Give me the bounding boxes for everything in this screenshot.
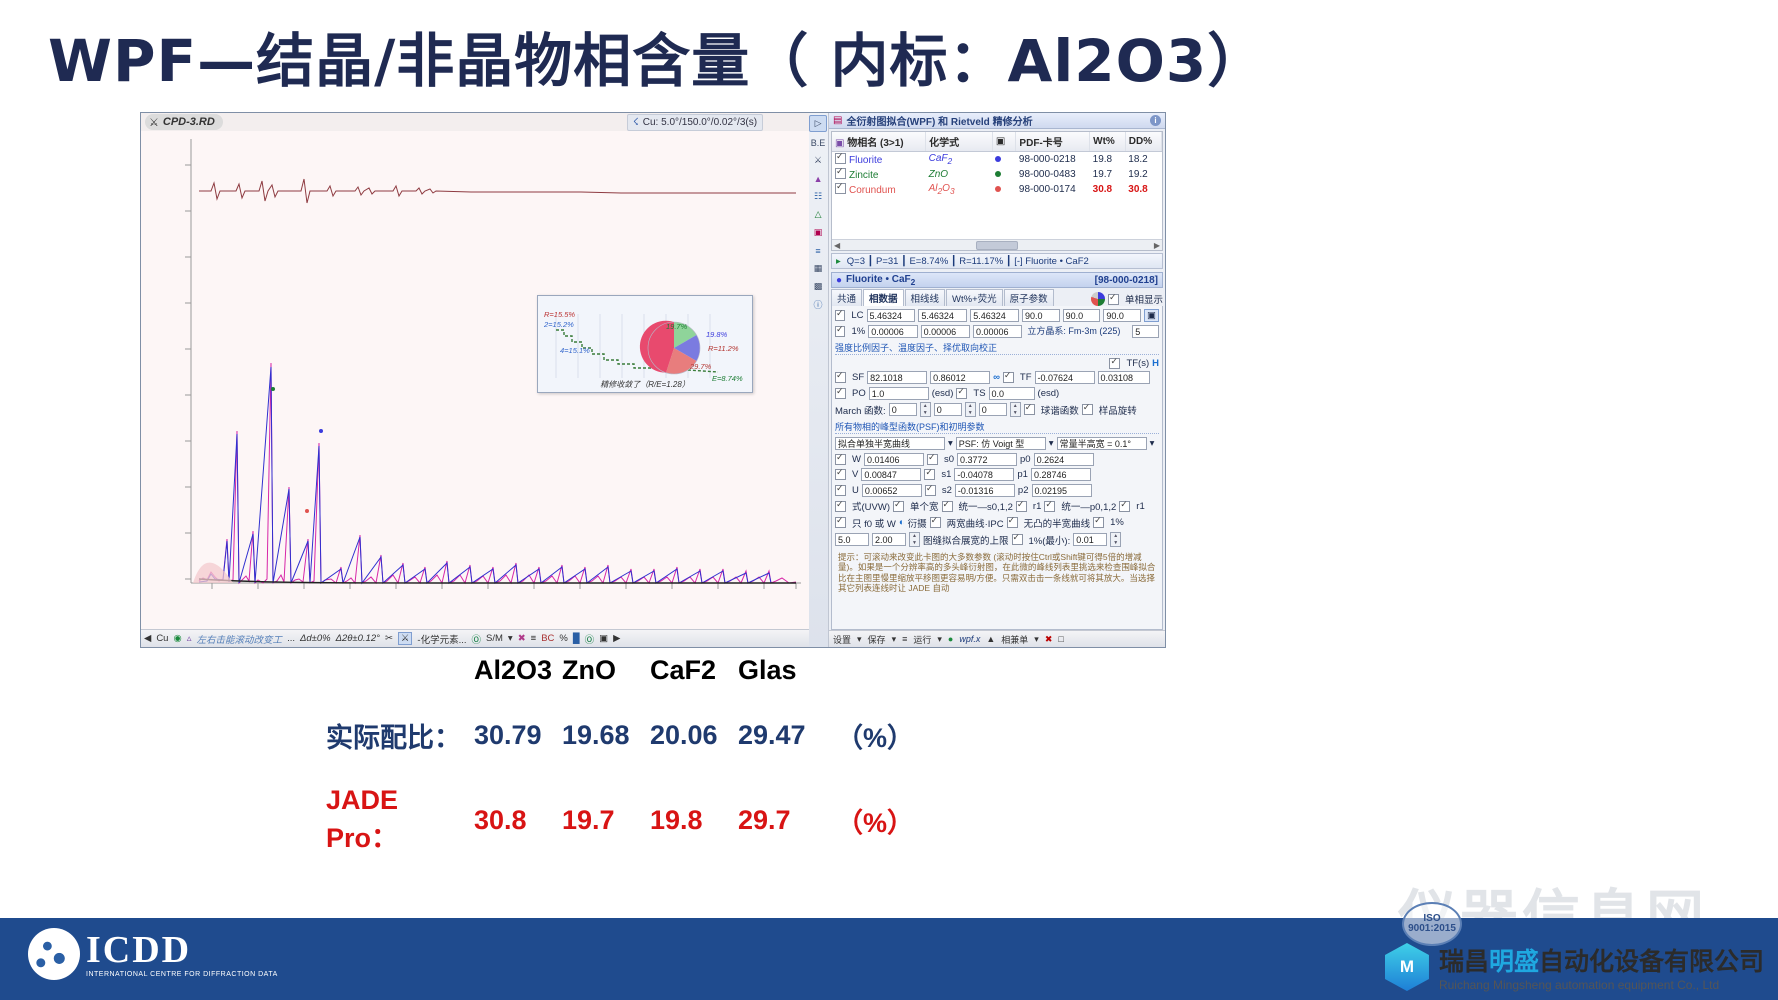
save-button[interactable]: 保存 (868, 633, 886, 646)
lattice-constants-row[interactable]: LC 5.46324 5.46324 5.46324 90.0 90.0 90.… (835, 309, 1159, 322)
lc-gamma-field[interactable]: 90.0 (1103, 309, 1141, 322)
inset-footer: 精修收敛了（R/E=1.28） (538, 379, 752, 390)
tfs-checkbox[interactable] (1109, 358, 1120, 369)
results-actual-zno: 19.68 (562, 720, 650, 751)
z-field[interactable]: 5 (1132, 325, 1159, 338)
file-tag[interactable]: ⚔ CPD-3.RD (145, 114, 223, 130)
unify-p-label: 统一—p0,1,2 (1061, 499, 1116, 513)
delta-theta-label[interactable]: Δ2θ±0.12° (336, 633, 380, 644)
results-jade-caf2: 19.8 (650, 805, 738, 836)
plot-bottom-toolbar[interactable]: ◀ Cu ◉ ▵ 左右击能滚动改变工 ... Δd±0% Δ2θ±0.12° ✂… (141, 629, 809, 647)
results-col-zno: ZnO (562, 655, 650, 686)
close-icon[interactable]: ✖ (1045, 634, 1053, 645)
grid-icon[interactable]: ▩ (810, 279, 826, 294)
limit-a-field[interactable]: 5.0 (835, 533, 869, 546)
tab-phase-data[interactable]: 相数据 (863, 289, 904, 306)
march-l-field[interactable]: 0 (979, 403, 1007, 416)
chevron-down-icon[interactable]: ▾ (857, 634, 862, 645)
s1-checkbox[interactable] (924, 469, 935, 480)
sf-infinity-icon[interactable]: ∞ (993, 372, 1000, 383)
sample-rotation-label: 样品旋转 (1099, 403, 1137, 417)
icdd-wordmark: ICDD (86, 931, 278, 969)
s1-label: s1 (941, 469, 951, 480)
limit-label: 图缝拟合展宽的上限 (923, 533, 1009, 547)
iso-line2: 9001:2015 (1408, 924, 1456, 935)
section-psf: 所有物相的峰型函数(PSF)和初明参数 (835, 420, 1159, 434)
po-row[interactable]: PO 1.0 (esd) TS 0.0 (esd) (835, 387, 1159, 400)
s0-label: s0 (944, 454, 954, 465)
scroll-thumb[interactable] (976, 241, 1018, 250)
info-icon[interactable]: ⓘ (810, 297, 826, 312)
scroll-left-arrow[interactable]: ◀ (834, 241, 840, 250)
tfs-h-icon[interactable]: H (1152, 358, 1159, 369)
column-header-phase[interactable]: ▣ 物相名 (3>1) (832, 132, 926, 152)
esd-b-field[interactable]: 0.00006 (921, 325, 970, 338)
march-h-field[interactable]: 0 (889, 403, 917, 416)
euro-icon[interactable]: Ⓞ (472, 632, 482, 646)
p2-label: p2 (1018, 485, 1029, 496)
euro2-icon[interactable]: Ⓞ (585, 632, 595, 646)
space-group-field[interactable]: 立方晶系: Fm-3m (225) (1025, 325, 1129, 338)
horizontal-scrollbar[interactable]: ◀ ▶ (832, 239, 1162, 250)
inset-item4: 4=15.1% (560, 346, 590, 355)
unify-s-label: 统一—s0,1,2 (959, 499, 1013, 513)
tf-value-field[interactable]: -0.07624 (1035, 371, 1095, 384)
wpf-bottom-toolbar[interactable]: 设置 ▾ 保存 ▾ ≡ 运行 ▾ ● wpf.x ▲ 相兼单 ▾ ✖ □ (829, 630, 1165, 647)
results-col-glas: Glas (738, 655, 826, 686)
u-label: U (852, 485, 859, 496)
pointer-icon[interactable]: ▷ (809, 115, 827, 132)
min-pct-label: 1%(最小): (1029, 533, 1071, 547)
phase-icon[interactable]: ⚔ (810, 153, 826, 168)
march-label: March 函数: (835, 403, 886, 417)
chevron-down-icon[interactable]: ▾ (1150, 438, 1155, 449)
list-icon[interactable]: ≡ (902, 634, 907, 644)
xray-icon: ☇ (633, 117, 639, 128)
p1-field[interactable]: 0.28746 (1031, 468, 1091, 481)
results-jade-zno: 19.7 (562, 805, 650, 836)
row-checkbox[interactable] (835, 153, 846, 164)
toolbar-ellipsis[interactable]: ... (287, 633, 295, 644)
icdd-subtitle: INTERNATIONAL CENTRE FOR DIFFRACTION DAT… (86, 971, 278, 978)
selected-phase-header: ● Fluorite • CaF2 [98-000-0218] (831, 272, 1163, 288)
diffract-label: 衍摄 (908, 516, 927, 530)
results-jade-al2o3: 30.8 (474, 805, 562, 836)
ts-checkbox[interactable] (956, 388, 967, 399)
bullet-icon: ● (836, 275, 842, 286)
table-row[interactable]: Corundum Al2O3 98-000-0174 30.8 30.8 (832, 182, 1162, 197)
tab-phase-lines[interactable]: 相线线 (905, 289, 946, 306)
wpf-panel-title-bar: ▤ 全衍射图拟合(WPF) 和 Rietveld 精修分析 i (829, 113, 1165, 129)
show-phase-checkbox[interactable] (1108, 294, 1119, 305)
no-convex-label: 无凸的半宽曲线 (1024, 516, 1091, 530)
cell-wt: 19.8 (1090, 152, 1126, 168)
extra-options-row[interactable]: 只 f0 或 W ◐ 衍摄 两宽曲线·IPC 无凸的半宽曲线 1% (835, 516, 1159, 530)
cell-phase-name: Fluorite (849, 155, 882, 166)
u-row[interactable]: U 0.00652 s2 -0.01316 p2 0.02195 (835, 484, 1159, 497)
po-label: PO (852, 388, 866, 399)
sf-checkbox[interactable] (835, 372, 846, 383)
vendor-logo-block: M 瑞昌明盛自动化设备有限公司 Ruichang Mingsheng autom… (1385, 942, 1764, 992)
uvw-label: 式(UVW) (852, 499, 890, 513)
jade-application-window: ⚔ CPD-3.RD ☇ Cu: 5.0°/150.0°/0.02°/3(s) … (140, 112, 1166, 648)
index-icon[interactable]: ☷ (810, 189, 826, 204)
tfs-label: TF(s) (1126, 358, 1149, 369)
expand-icon[interactable]: ▸ (836, 256, 841, 267)
uvw-checkbox[interactable] (835, 501, 846, 512)
lc-a-field[interactable]: 5.46324 (867, 309, 916, 322)
ts-label: TS (973, 388, 985, 399)
psf-select-row[interactable]: 拟合单独半宽曲线 ▾ PSF: 仿 Voigt 型 ▾ 常量半高宽 = 0.1°… (835, 437, 1159, 450)
fit-quality-text: Q=3 ┃ P=31 ┃ E=8.74% ┃ R=11.17% ┃ [-] Fl… (847, 256, 1089, 267)
file-tag-label: CPD-3.RD (163, 116, 215, 128)
results-actual-al2o3: 30.79 (474, 720, 562, 751)
color-swatch (995, 156, 1001, 162)
table-icon[interactable]: ▦ (810, 261, 826, 276)
single-width-label: 单个宽 (910, 499, 939, 513)
lc-alpha-field[interactable]: 90.0 (1022, 309, 1060, 322)
lc-checkbox[interactable] (835, 310, 845, 321)
column-header-color[interactable]: ▣ (992, 132, 1016, 152)
esd-checkbox[interactable] (835, 326, 845, 337)
table-row[interactable]: Zincite ZnO 98-000-0483 19.7 19.2 (832, 167, 1162, 182)
v-row[interactable]: V 0.00847 s1 -0.04078 p1 0.28746 (835, 468, 1159, 481)
chevron-down-icon[interactable]: ▾ (937, 634, 942, 645)
pattern-icon: ⚔ (149, 116, 159, 129)
grid-icon[interactable]: ▣ (599, 633, 608, 644)
march-h-spinner[interactable]: ▲▼ (920, 402, 931, 417)
results-actual-caf2: 20.06 (650, 720, 738, 751)
run-button[interactable]: 运行 (913, 633, 931, 646)
icdd-logo: ICDD INTERNATIONAL CENTRE FOR DIFFRACTIO… (28, 928, 278, 980)
march-k-spinner[interactable]: ▲▼ (965, 402, 976, 417)
pct2-label: 1% (1110, 517, 1124, 528)
r1a-checkbox[interactable] (1016, 501, 1027, 512)
limit-b-field[interactable]: 2.00 (872, 533, 906, 546)
lc-beta-field[interactable]: 90.0 (1063, 309, 1101, 322)
info-icon[interactable]: i (1150, 115, 1161, 126)
table-row[interactable]: Fluorite CaF2 98-000-0218 19.8 18.2 (832, 152, 1162, 168)
chevron-down-icon[interactable]: ▾ (948, 438, 953, 449)
psf-mode-select[interactable]: 拟合单独半宽曲线 (835, 437, 945, 450)
sf-row[interactable]: SF 82.1018 0.86012 ∞ TF -0.07624 0.03108 (835, 371, 1159, 384)
percent-label[interactable]: % (559, 633, 567, 644)
selected-phase-name: Fluorite • CaF2 (846, 274, 915, 287)
list-icon[interactable]: ≡ (531, 633, 537, 644)
lock-icon: ▣ (835, 138, 844, 149)
po-checkbox[interactable] (835, 388, 846, 399)
diffraction-plot-pane[interactable]: ⚔ CPD-3.RD ☇ Cu: 5.0°/150.0°/0.02°/3(s) … (141, 113, 807, 647)
results-jade-unit: （%） (836, 801, 914, 840)
globe-icon (28, 928, 80, 980)
limit-row[interactable]: 5.0 2.00 ▲▼ 图缝拟合展宽的上限 1%(最小): 0.01 ▲▼ (835, 532, 1159, 547)
p2-field[interactable]: 0.02195 (1032, 484, 1092, 497)
row-checkbox[interactable] (835, 168, 846, 179)
s2-checkbox[interactable] (925, 485, 936, 496)
section-intensity-factors: 强度比例因子、温度因子、择优取向校正 (835, 341, 1159, 355)
color-swatch (995, 171, 1001, 177)
settings-button[interactable]: 设置 (833, 633, 851, 646)
inset-slice-fluorite: 19.8% (706, 330, 727, 339)
tf-label: TF (1020, 372, 1032, 383)
page-title: WPF—结晶/非晶物相含量（ 内标：Al2O3） (48, 14, 1266, 98)
esd-c-field[interactable]: 0.00006 (973, 325, 1022, 338)
hint-text: 提示：可滚动来改变此卡图的大多数参数 (滚动时按住Ctrl或Shift键可得5倍… (835, 550, 1159, 597)
results-actual-label: 实际配比： (326, 716, 474, 755)
sm-label[interactable]: S/M (486, 633, 503, 644)
results-comparison: Al2O3 ZnO CaF2 Glas 实际配比： 30.79 19.68 20… (0, 655, 1778, 855)
row-checkbox[interactable] (835, 183, 846, 194)
pct2-checkbox[interactable] (1093, 517, 1104, 528)
tab-atomic-params[interactable]: 原子参数 (1004, 289, 1054, 306)
column-header-formula[interactable]: 化学式 (926, 132, 993, 152)
chevron-down-icon[interactable]: ▾ (508, 633, 513, 644)
nav-left-icon[interactable]: ◀ (144, 633, 151, 644)
r1b-label: r1 (1136, 501, 1144, 512)
w-field[interactable]: 0.01406 (864, 453, 924, 466)
tfs-row[interactable]: TF(s) H (835, 358, 1159, 369)
sf-label: SF (852, 372, 864, 383)
wpf-rietveld-panel[interactable]: ▤ 全衍射图拟合(WPF) 和 Rietveld 精修分析 i ▣ 物相名 (3… (829, 113, 1165, 647)
phase-icon[interactable]: ⚔ (398, 632, 413, 645)
chart-icon[interactable]: █ (573, 633, 580, 644)
inset-r-total: R=15.5% (544, 310, 575, 319)
march-l-spinner[interactable]: ▲▼ (1010, 402, 1021, 417)
esd-a-field[interactable]: 0.00006 (868, 325, 917, 338)
u-field[interactable]: 0.00652 (862, 484, 922, 497)
tab-wt-fluorescence[interactable]: Wt%+荧光 (946, 289, 1003, 306)
vendor-name-en: Ruichang Mingsheng automation equipment … (1439, 978, 1764, 992)
s0-field[interactable]: 0.3772 (957, 453, 1017, 466)
element-filter-label[interactable]: -化学元素... (417, 632, 466, 646)
fwhm-select[interactable]: 常量半高宽 = 0.1° (1057, 437, 1147, 450)
wpf-panel-title: 全衍射图拟合(WPF) 和 Rietveld 精修分析 (846, 113, 1032, 128)
results-col-caf2: CaF2 (650, 655, 738, 686)
w-label: W (852, 454, 861, 465)
sf-value-field[interactable]: 82.1018 (867, 371, 927, 384)
spherical-checkbox[interactable] (1024, 404, 1035, 415)
ts-esd-label: (esd) (1038, 388, 1060, 399)
wave-icon[interactable]: ▵ (187, 633, 192, 644)
unify-p-checkbox[interactable] (1044, 501, 1055, 512)
column-header-dd[interactable]: DD% (1125, 132, 1161, 152)
column-header-pdf[interactable]: PDF-卡号 (1016, 132, 1090, 152)
cell-phase-name: Corundum (849, 185, 896, 196)
measurement-condition-tag[interactable]: ☇ Cu: 5.0°/150.0°/0.02°/3(s) (627, 114, 763, 131)
scroll-right-arrow[interactable]: ▶ (1154, 241, 1160, 250)
march-k-field[interactable]: 0 (934, 403, 962, 416)
chart-icon[interactable]: ▲ (986, 634, 995, 644)
x-icon[interactable]: ✖ (518, 633, 526, 644)
results-actual-glas: 29.47 (738, 720, 826, 751)
cell-formula: Al2O3 (929, 183, 955, 194)
esd-label: 1% (851, 326, 865, 337)
v-checkbox[interactable] (835, 469, 846, 480)
lc-c-field[interactable]: 5.46324 (970, 309, 1019, 322)
inset-r-value: R=11.2% (708, 344, 739, 353)
column-header-wt[interactable]: Wt% (1090, 132, 1126, 152)
lattice-tool-icon[interactable]: ▣ (1144, 309, 1159, 322)
results-row-jade: JADE Pro： 30.8 19.7 19.8 29.7 （%） (0, 785, 1778, 855)
s2-label: s2 (942, 485, 952, 496)
w-checkbox[interactable] (835, 454, 846, 465)
cell-pdf: 98-000-0218 (1016, 152, 1090, 168)
lc-label: LC (851, 310, 863, 321)
only-f0w-label: 只 f0 或 W (852, 516, 896, 530)
measurement-condition-label: Cu: 5.0°/150.0°/0.02°/3(s) (643, 117, 757, 128)
single-width-checkbox[interactable] (893, 501, 904, 512)
min-pct-checkbox[interactable] (1012, 534, 1023, 545)
cell-wt: 19.7 (1090, 167, 1126, 182)
inset-slice-zincite: 19.7% (666, 322, 687, 331)
s0-checkbox[interactable] (927, 454, 938, 465)
r1a-label: r1 (1033, 501, 1041, 512)
results-col-al2o3: Al2O3 (474, 655, 562, 686)
lc-b-field[interactable]: 5.46324 (918, 309, 967, 322)
cell-pdf: 98-000-0483 (1016, 167, 1090, 182)
list-icon[interactable]: ≡ (810, 243, 826, 258)
ts-value-field[interactable]: 0.0 (989, 387, 1035, 400)
results-actual-unit: （%） (836, 716, 914, 755)
file-name-label[interactable]: wpf.x (959, 634, 980, 644)
tf-esd-field[interactable]: 0.03108 (1098, 371, 1150, 384)
report-icon[interactable]: ▣ (810, 225, 826, 240)
s1-field[interactable]: -0.04078 (954, 468, 1014, 481)
scissors-icon[interactable]: ✂ (385, 633, 393, 644)
po-esd-label: (esd) (932, 388, 954, 399)
cell-formula: ZnO (929, 169, 948, 180)
no-convex-checkbox[interactable] (1007, 517, 1018, 528)
maximize-icon[interactable]: □ (1058, 634, 1063, 644)
p1-label: p1 (1017, 469, 1028, 480)
sf-esd-field[interactable]: 0.86012 (930, 371, 990, 384)
only-f0w-checkbox[interactable] (835, 517, 846, 528)
tf-checkbox[interactable] (1003, 372, 1014, 383)
wpf-icon: ▤ (833, 115, 842, 126)
nav-right-icon[interactable]: ▶ (613, 633, 620, 644)
slide-footer: ICDD INTERNATIONAL CENTRE FOR DIFFRACTIO… (0, 918, 1778, 1000)
uvw-options-row[interactable]: 式(UVW) 单个宽 统一—s0,1,2 r1 统一—p0,1,2 r1 (835, 499, 1159, 513)
circle-icon[interactable]: ◉ (173, 633, 181, 644)
min-pct-spinner[interactable]: ▲▼ (1110, 532, 1121, 547)
results-jade-label: JADE Pro： (326, 785, 474, 855)
bg-icon[interactable]: B.E (810, 135, 826, 150)
cell-phase-name: Zincite (849, 170, 878, 181)
fwhm-curve-checkbox[interactable] (930, 517, 941, 528)
phase-list-button[interactable]: 相兼单 (1001, 633, 1028, 646)
table-header-row: ▣ 物相名 (3>1) 化学式 ▣ PDF-卡号 Wt% DD% (832, 132, 1162, 152)
p0-label: p0 (1020, 454, 1031, 465)
color-swatch (995, 186, 1001, 192)
show-phase-label: 单相显示 (1125, 292, 1163, 306)
cell-dd: 30.8 (1125, 182, 1161, 197)
cell-formula: CaF2 (929, 153, 953, 164)
inset-item2: 2=15.2% (544, 320, 574, 329)
fit-quality-line: ▸ Q=3 ┃ P=31 ┃ E=8.74% ┃ R=11.17% ┃ [-] … (831, 253, 1163, 269)
fwhm-curve-label: 两宽曲线·IPC (947, 516, 1004, 530)
p0-field[interactable]: 0.2624 (1034, 453, 1094, 466)
limit-b-spinner[interactable]: ▲▼ (909, 532, 920, 547)
pin-icon[interactable]: ● (948, 634, 953, 644)
cell-dd: 19.2 (1125, 167, 1161, 182)
fit-summary-inset[interactable]: 全图拟合衍射图 R=15.5% (537, 295, 753, 393)
phase-tabs[interactable]: 共通 相数据 相线线 Wt%+荧光 原子参数 单相显示 (831, 290, 1163, 306)
march-row[interactable]: March 函数: 0 ▲▼ 0 ▲▼ 0 ▲▼ 球谐函数 样品旋转 (835, 402, 1159, 417)
vendor-name-cn: 瑞昌明盛自动化设备有限公司 (1439, 942, 1764, 978)
sample-rotation-checkbox[interactable] (1082, 404, 1093, 415)
bc-label[interactable]: BC (541, 633, 554, 644)
min-pct-field[interactable]: 0.01 (1073, 533, 1107, 546)
pie-preview-icon[interactable] (1091, 292, 1105, 306)
peak-icon[interactable]: ▲ (810, 171, 826, 186)
anode-label[interactable]: Cu (156, 633, 168, 644)
v-field[interactable]: 0.00847 (861, 468, 921, 481)
iso-badge: ISO 9001:2015 (1402, 902, 1462, 946)
phase-table[interactable]: ▣ 物相名 (3>1) 化学式 ▣ PDF-卡号 Wt% DD% Fluorit… (831, 131, 1163, 251)
inset-slice-amorphous: 29.7% (690, 362, 711, 371)
results-jade-glas: 29.7 (738, 805, 826, 836)
chevron-down-icon[interactable]: ▾ (1034, 634, 1039, 645)
phase-data-form[interactable]: LC 5.46324 5.46324 5.46324 90.0 90.0 90.… (831, 306, 1163, 630)
results-row-actual: 实际配比： 30.79 19.68 20.06 29.47 （%） (0, 716, 1778, 755)
results-header-row: Al2O3 ZnO CaF2 Glas (0, 655, 1778, 686)
scroll-hint: 左右击能滚动改变工 (197, 632, 283, 646)
chevron-down-icon[interactable]: ▾ (892, 634, 897, 645)
u-checkbox[interactable] (835, 485, 846, 496)
diffract-icon[interactable]: ◐ (899, 517, 905, 528)
fit-icon[interactable]: △ (810, 207, 826, 222)
spherical-label: 球谐函数 (1041, 403, 1079, 417)
cell-pdf: 98-000-0174 (1016, 182, 1090, 197)
tab-common[interactable]: 共通 (831, 289, 862, 306)
chevron-down-icon[interactable]: ▾ (1049, 438, 1054, 449)
delta-d-label[interactable]: Δd±0% (300, 633, 331, 644)
po-value-field[interactable]: 1.0 (869, 387, 929, 400)
r1b-checkbox[interactable] (1119, 501, 1130, 512)
vertical-tool-rail[interactable]: ▷ B.E ⚔ ▲ ☷ △ ▣ ≡ ▦ ▩ ⓘ (807, 113, 829, 647)
selected-phase-pdf: [98-000-0218] (1095, 275, 1158, 286)
w-row[interactable]: W 0.01406 s0 0.3772 p0 0.2624 (835, 453, 1159, 466)
cell-wt: 30.8 (1090, 182, 1126, 197)
s2-field[interactable]: -0.01316 (955, 484, 1015, 497)
psf-type-select[interactable]: PSF: 仿 Voigt 型 (956, 437, 1046, 450)
unify-s-checkbox[interactable] (942, 501, 953, 512)
vendor-hexagon-icon: M (1385, 943, 1429, 991)
esd-row[interactable]: 1% 0.00006 0.00006 0.00006 立方晶系: Fm-3m (… (835, 325, 1159, 338)
cell-dd: 18.2 (1125, 152, 1161, 168)
v-label: V (852, 469, 858, 480)
